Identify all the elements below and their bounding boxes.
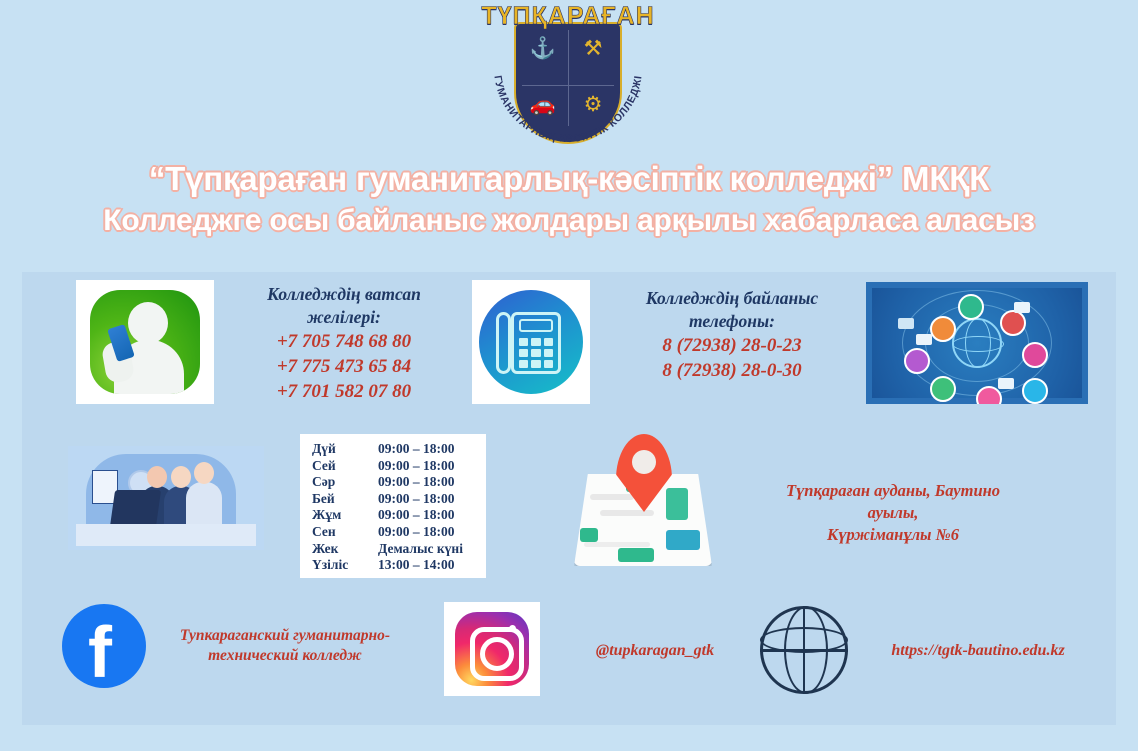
anchor-icon: ⚓ [520,38,566,59]
table-row: Жек Демалыс күні [312,541,476,558]
website-url[interactable]: https://tgtk-bautino.edu.kz [868,640,1088,661]
phone-screen-shape [519,319,553,332]
chat-bubble-icon [1014,302,1030,313]
working-hours-table: Дүй 09:00 – 18:00 Сей 09:00 – 18:00 Сәр … [300,434,486,578]
car-repair-icon: 🚗 [520,94,566,115]
table-row: Бей 09:00 – 18:00 [312,491,476,508]
emblem-shield: ⚓ ⚒ 🚗 ⚙ [514,22,622,144]
cloud-icon [898,318,914,329]
address-line-1: Түпқараған ауданы, Баутино [762,480,1024,502]
schedule-day: Сәр [312,474,378,490]
avatar [930,376,956,402]
chat-bubble-icon [998,378,1014,389]
telephone-number[interactable]: 8 (72938) 28-0-23 [608,333,856,358]
schedule-time: 09:00 – 18:00 [378,458,455,474]
avatar [958,294,984,320]
phone-handset-shape [496,312,511,374]
schedule-day: Сей [312,458,378,474]
shield-divider-horizontal [522,85,614,86]
shield-divider-vertical [568,30,569,126]
whatsapp-number[interactable]: +7 701 582 07 80 [232,379,456,404]
instagram-icon[interactable] [444,602,540,696]
table-row: Үзіліс 13:00 – 14:00 [312,557,476,574]
table-row: Сей 09:00 – 18:00 [312,458,476,475]
desk-shape [76,524,256,546]
instagram-handle-label: @tupkaragan_gtk [560,640,750,661]
facebook-name-line-1: Тупкараганский гуманитарно- [160,626,410,646]
telephone-contact-block: Колледждің байланыс телефоны: 8 (72938) … [608,287,856,383]
whatsapp-number[interactable]: +7 705 748 68 80 [232,329,456,354]
desk-phone-icon[interactable] [472,280,590,404]
person-head-shape [128,302,168,344]
instagram-badge [455,612,529,686]
whatsapp-number[interactable]: +7 775 473 65 84 [232,354,456,379]
schedule-day: Дүй [312,441,378,457]
avatar [1022,378,1048,404]
schedule-time: 09:00 – 18:00 [378,441,455,457]
schedule-day: Үзіліс [312,557,378,573]
social-network-globe-image [866,282,1088,404]
avatar [1022,342,1048,368]
schedule-day: Сен [312,524,378,540]
website-url-label: https://tgtk-bautino.edu.kz [868,640,1088,661]
address-line-3: Күржіманұлы №6 [762,524,1024,546]
emblem-title: ТҮПҚАРАҒАН [478,2,658,31]
network-globe-icon [952,318,1002,368]
whatsapp-label-line2: желілері: [232,306,456,329]
poster-canvas: ТҮПҚАРАҒАН ⚓ ⚒ 🚗 ⚙ ГУМАНИТАРЛЫҚ-КӘСІПТІК… [0,0,1138,751]
address-line-2: ауылы, [762,502,1024,524]
whatsapp-person-icon[interactable] [76,280,214,404]
avatar [904,348,930,374]
schedule-day: Бей [312,491,378,507]
schedule-time: Демалыс күні [378,541,463,557]
call-center-operators-image [68,446,264,550]
table-row: Дүй 09:00 – 18:00 [312,441,476,458]
schedule-day: Жек [312,541,378,557]
facebook-glyph: f [88,618,112,688]
schedule-time: 09:00 – 18:00 [378,524,455,540]
schedule-time: 09:00 – 18:00 [378,507,455,523]
table-row: Сәр 09:00 – 18:00 [312,474,476,491]
instagram-lens-dot [509,625,516,632]
facebook-page-name[interactable]: Тупкараганский гуманитарно- технический … [160,626,410,667]
whatsapp-contact-block: Колледждің ватсап желілері: +7 705 748 6… [232,283,456,404]
poster-headings: “Түпқараған гуманитарлық-кәсіптік коллед… [0,160,1138,238]
telephone-label-line1: Колледждің байланыс [608,287,856,310]
avatar [1000,310,1026,336]
college-emblem: ТҮПҚАРАҒАН ⚓ ⚒ 🚗 ⚙ ГУМАНИТАРЛЫҚ-КӘСІПТІК… [478,2,658,150]
table-row: Жұм 09:00 – 18:00 [312,507,476,524]
whatsapp-label-line1: Колледждің ватсап [232,283,456,306]
address-block: Түпқараған ауданы, Баутино ауылы, Күржім… [762,480,1024,545]
avatar [930,316,956,342]
telephone-label-line2: телефоны: [608,310,856,333]
map-location-pin-icon[interactable] [566,432,722,574]
facebook-name-line-2: технический колледж [160,646,410,666]
globe-shape [760,606,848,694]
phone-keypad-shape [519,338,553,368]
schedule-time: 09:00 – 18:00 [378,474,455,490]
telephone-number[interactable]: 8 (72938) 28-0-30 [608,358,856,383]
schedule-day: Жұм [312,507,378,523]
phone-badge [479,290,583,394]
page-title: “Түпқараған гуманитарлық-кәсіптік коллед… [0,160,1138,199]
schedule-time: 09:00 – 18:00 [378,491,455,507]
instagram-handle[interactable]: @tupkaragan_gtk [560,640,750,661]
table-row: Сен 09:00 – 18:00 [312,524,476,541]
whatsapp-badge [90,290,200,394]
welder-icon: ⚙ [570,94,616,115]
schedule-time: 13:00 – 14:00 [378,557,455,573]
globe-icon[interactable] [756,602,852,698]
page-subtitle: Колледжге осы байланыс жолдары арқылы ха… [0,203,1138,238]
chat-bubble-icon [916,334,932,345]
network-illustration-inner [872,288,1082,398]
crane-icon: ⚒ [570,38,616,59]
facebook-icon[interactable]: f [62,604,146,688]
